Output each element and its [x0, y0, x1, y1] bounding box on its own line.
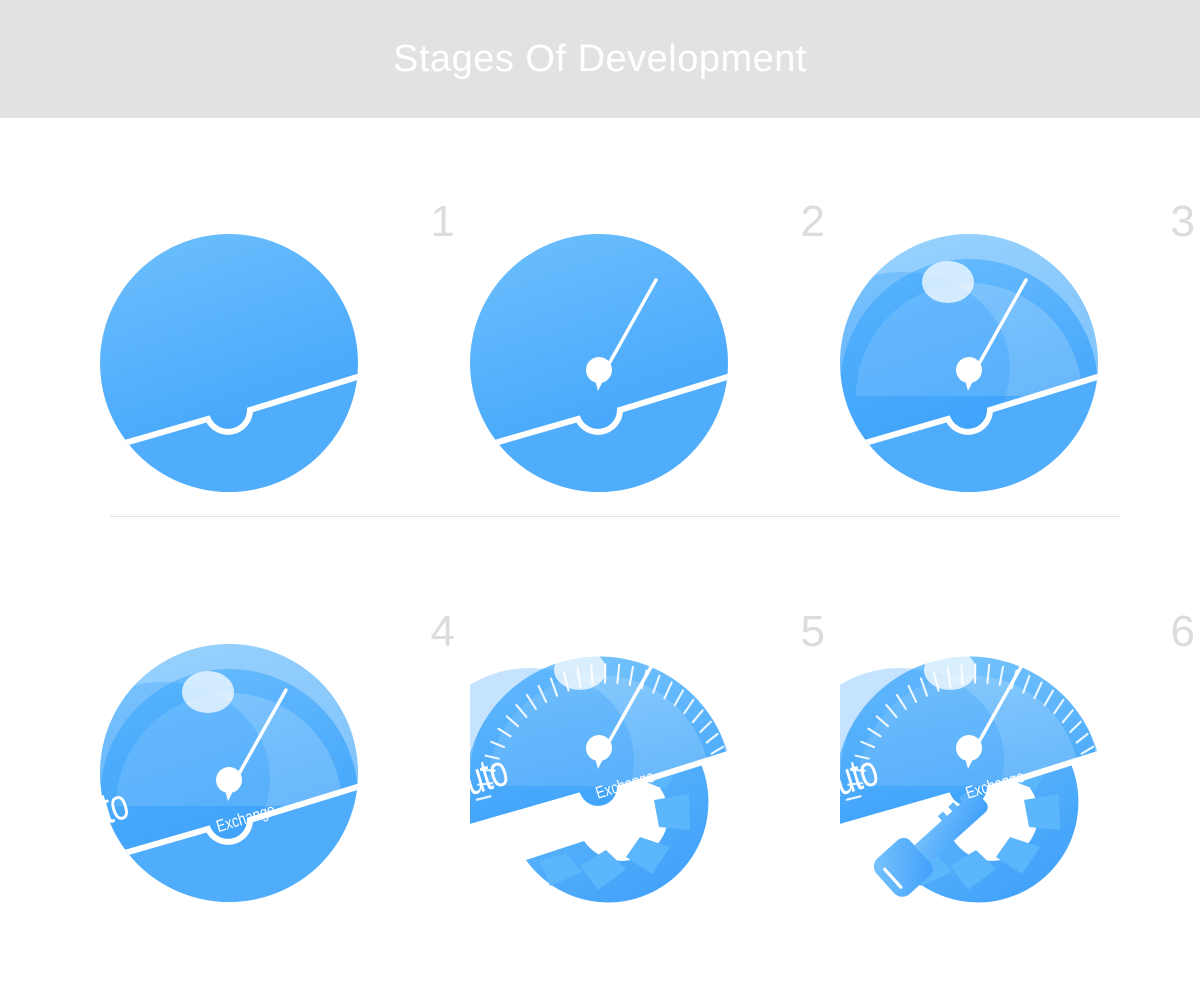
stage-2[interactable]: 2 [470, 148, 830, 548]
stage-number-1: 1 [431, 200, 455, 244]
stage-4-artwork: Auto Exchange [100, 628, 390, 918]
stage-3-artwork [840, 218, 1130, 508]
stage-row-bottom: 4 [0, 558, 1200, 958]
stage-6[interactable]: 6 [840, 558, 1200, 958]
stage-1-artwork [100, 218, 390, 508]
stage-1[interactable]: 1 [100, 148, 460, 548]
page-title: Stages Of Development [393, 38, 807, 81]
stage-5[interactable]: 5 [470, 558, 830, 958]
stage-6-artwork: Auto Exchange [840, 628, 1130, 918]
stage-2-artwork [470, 218, 760, 508]
highlight-dot [922, 261, 974, 303]
stage-number-6: 6 [1171, 610, 1195, 654]
stage-row-top: 1 [0, 148, 1200, 548]
stages-of-development-page: Stages Of Development 1 [0, 0, 1200, 1000]
stage-number-3: 3 [1171, 200, 1195, 244]
stage-number-2: 2 [801, 200, 825, 244]
stage-number-5: 5 [801, 610, 825, 654]
stage-grid: 1 [0, 118, 1200, 1000]
stage-number-4: 4 [431, 610, 455, 654]
row-divider [110, 516, 1120, 517]
highlight-dot [182, 671, 234, 713]
stage-4[interactable]: 4 [100, 558, 460, 958]
stage-5-artwork: Auto Exchange [470, 628, 760, 918]
stage-3[interactable]: 3 [840, 148, 1200, 548]
stage-1-circle-body [100, 234, 385, 508]
header-bar: Stages Of Development [0, 0, 1200, 118]
